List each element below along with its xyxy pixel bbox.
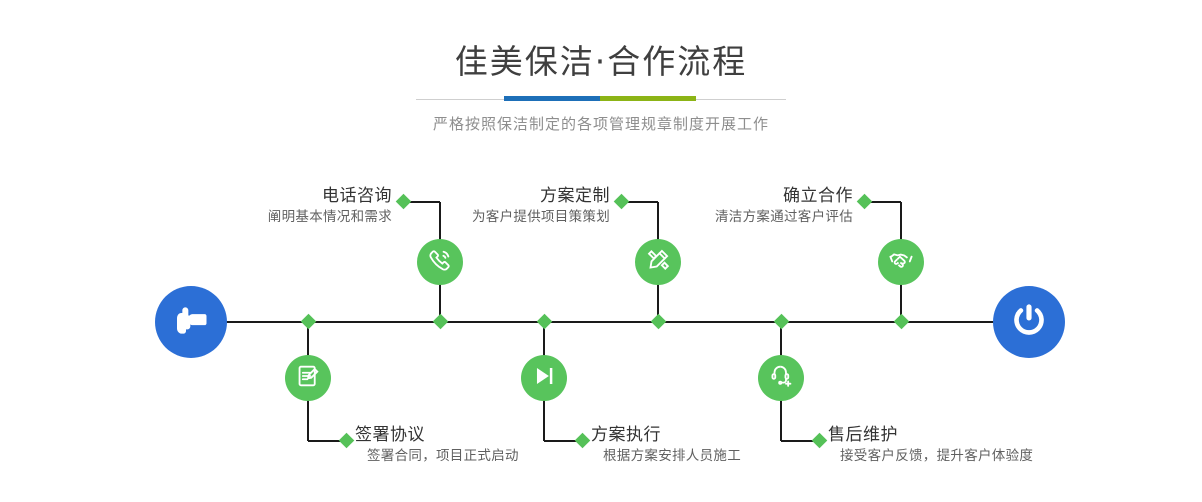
timeline-marker-6 — [773, 314, 789, 330]
step-desc-5: 清洁方案通过客户评估 — [589, 207, 853, 227]
timeline-marker-5 — [893, 314, 909, 330]
power-icon — [1009, 300, 1049, 344]
step-icon-bubble-5 — [878, 239, 924, 285]
step-title-4: 方案执行 — [591, 424, 851, 446]
document-edit-icon — [295, 363, 321, 393]
handshake-icon — [888, 247, 914, 277]
pencil-ruler-icon — [645, 247, 671, 277]
step-label-marker-5 — [857, 194, 873, 210]
step-icon-bubble-6 — [758, 355, 804, 401]
step-desc-1: 阐明基本情况和需求 — [146, 207, 392, 227]
step-title-6: 售后维护 — [828, 424, 1118, 446]
step-label-5: 确立合作 清洁方案通过客户评估 — [589, 185, 853, 227]
step-icon-bubble-2 — [285, 355, 331, 401]
timeline-marker-3 — [650, 314, 666, 330]
step-icon-bubble-3 — [635, 239, 681, 285]
timeline-axis — [160, 321, 1042, 323]
headset-add-icon — [768, 363, 794, 393]
step-desc-4: 根据方案安排人员施工 — [603, 446, 851, 466]
step-label-4: 方案执行 根据方案安排人员施工 — [591, 424, 851, 466]
step-desc-3: 为客户提供项目策策划 — [358, 207, 610, 227]
process-flow-infographic: 佳美保洁·合作流程 严格按照保洁制定的各项管理规章制度开展工作 — [0, 0, 1202, 502]
step-label-6: 售后维护 接受客户反馈，提升客户体验度 — [828, 424, 1118, 466]
step-title-1: 电话咨询 — [146, 185, 392, 207]
phone-call-icon — [427, 247, 453, 277]
step-title-3: 方案定制 — [358, 185, 610, 207]
pointing-hand-icon — [171, 300, 211, 344]
timeline-end-node — [993, 286, 1065, 358]
play-skip-icon — [531, 363, 557, 393]
step-label-1: 电话咨询 阐明基本情况和需求 — [146, 185, 392, 227]
step-label-marker-2 — [339, 433, 355, 449]
timeline-marker-1 — [432, 314, 448, 330]
timeline-marker-4 — [536, 314, 552, 330]
step-label-2: 签署协议 签署合同，项目正式启动 — [355, 424, 615, 466]
step-desc-6: 接受客户反馈，提升客户体验度 — [840, 446, 1118, 466]
timeline-marker-2 — [300, 314, 316, 330]
timeline-start-node — [155, 286, 227, 358]
step-icon-bubble-4 — [521, 355, 567, 401]
step-title-5: 确立合作 — [589, 185, 853, 207]
step-desc-2: 签署合同，项目正式启动 — [367, 446, 615, 466]
timeline: 电话咨询 阐明基本情况和需求 签署协议 签署合同， — [0, 0, 1202, 502]
step-label-3: 方案定制 为客户提供项目策策划 — [358, 185, 610, 227]
step-icon-bubble-1 — [417, 239, 463, 285]
